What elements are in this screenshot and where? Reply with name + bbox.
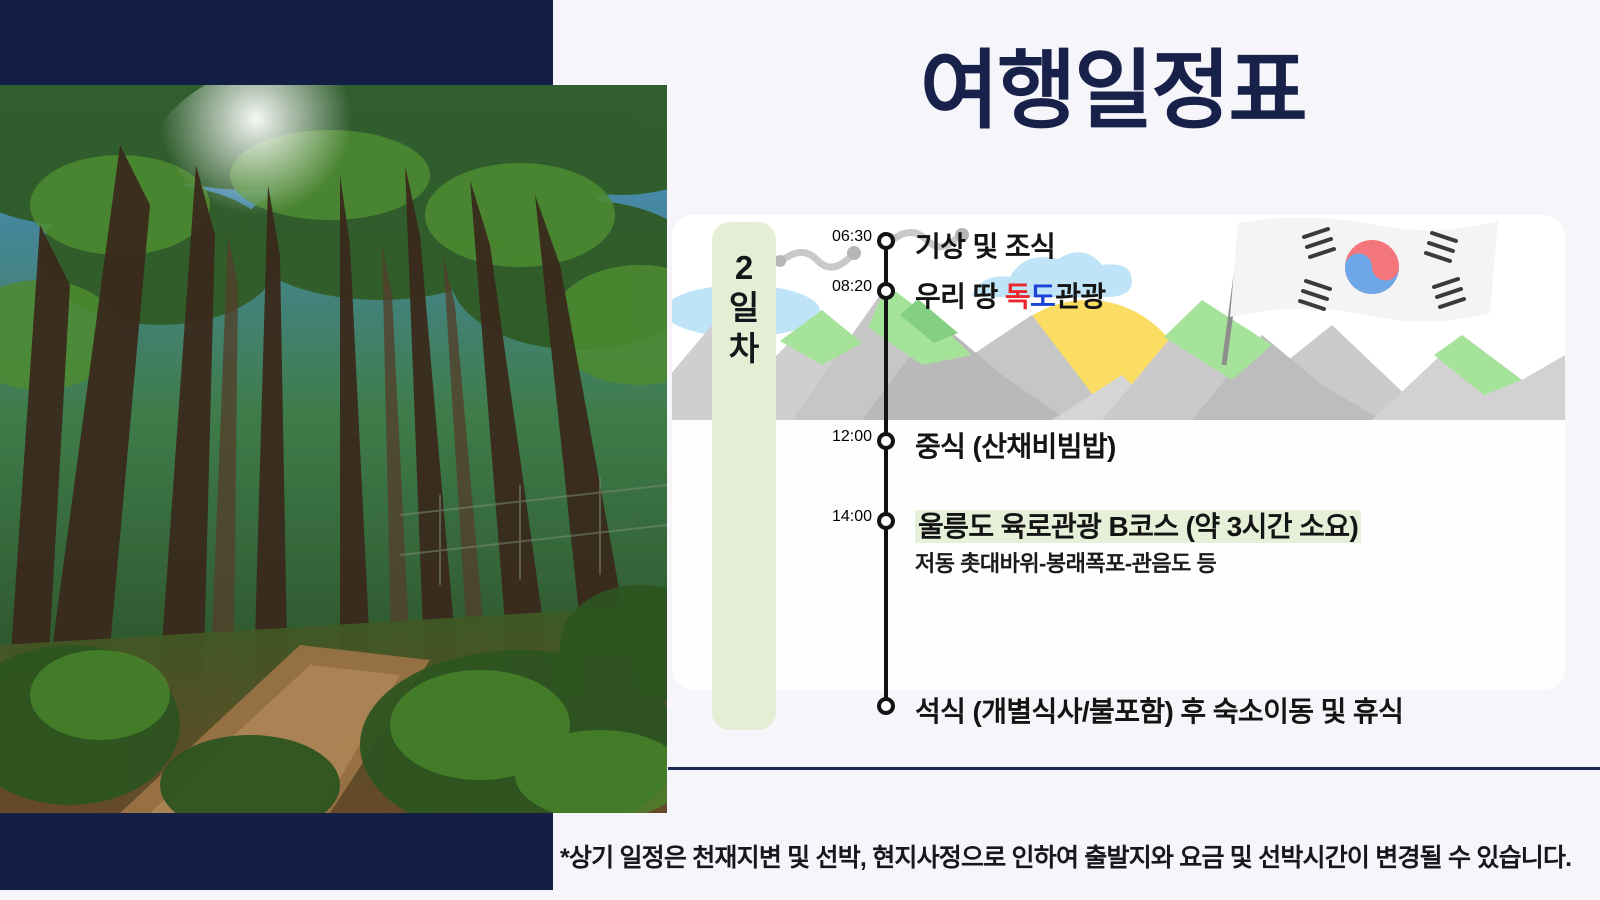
timeline-event-title: 석식 (개별식사/불포함) 후 숙소이동 및 휴식: [915, 690, 1403, 730]
timeline-axis: [884, 238, 888, 708]
timeline-time: 14:00: [786, 508, 872, 526]
footnote: *상기 일정은 천재지변 및 선박, 현지사정으로 인하여 출발지와 요금 및 …: [560, 838, 1571, 874]
timeline-dot: [877, 512, 895, 530]
timeline-time: 08:20: [786, 278, 872, 296]
timeline-event-title: 우리 땅 독도관광: [915, 275, 1106, 315]
timeline-event-subtitle: 저동 촛대바위-봉래폭포-관음도 등: [915, 546, 1216, 578]
day-badge-char-cha: 차: [729, 329, 759, 369]
day-badge: 2 일 차: [712, 222, 776, 730]
korean-flag-icon: [1230, 217, 1498, 321]
day-badge-char-il: 일: [729, 288, 759, 328]
timeline-time: 12:00: [786, 428, 872, 446]
timeline-event-title: 중식 (산채비빔밥): [915, 425, 1116, 465]
day-badge-number: 2: [735, 248, 753, 288]
timeline-dot: [877, 282, 895, 300]
forest-photo: [0, 85, 667, 813]
horizontal-divider: [668, 767, 1600, 770]
timeline-event-title: 울릉도 육로관광 B코스 (약 3시간 소요): [915, 505, 1361, 545]
timeline-time: 06:30: [786, 228, 872, 246]
timeline-dot: [877, 697, 895, 715]
timeline-event-title: 기상 및 조식: [915, 225, 1055, 265]
page-title: 여행일정표: [920, 48, 1306, 134]
timeline-dot: [877, 232, 895, 250]
timeline-dot: [877, 432, 895, 450]
